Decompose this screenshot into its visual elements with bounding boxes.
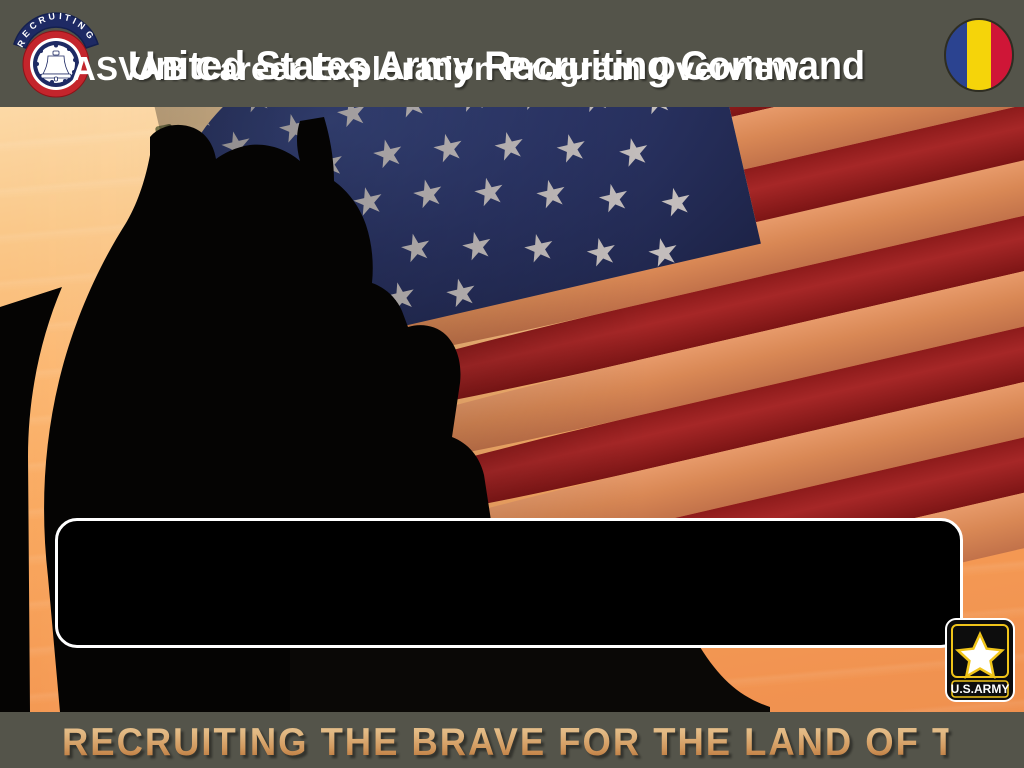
footer-bar: RECRUITING THE BRAVE FOR THE LAND OF THE… [0, 712, 1024, 768]
army-wordmark: U.S.ARMY [951, 682, 1010, 696]
footer-tagline: RECRUITING THE BRAVE FOR THE LAND OF THE… [62, 720, 949, 765]
tricolor-roundel-icon [943, 17, 1015, 93]
slide-title: ASVAB Career Exploration Program Overvie… [72, 50, 799, 88]
slide-title-box [55, 518, 963, 648]
us-army-star-logo: U.S.ARMY [944, 617, 1016, 703]
slide-root: R E C R U I T I N G [0, 0, 1024, 768]
